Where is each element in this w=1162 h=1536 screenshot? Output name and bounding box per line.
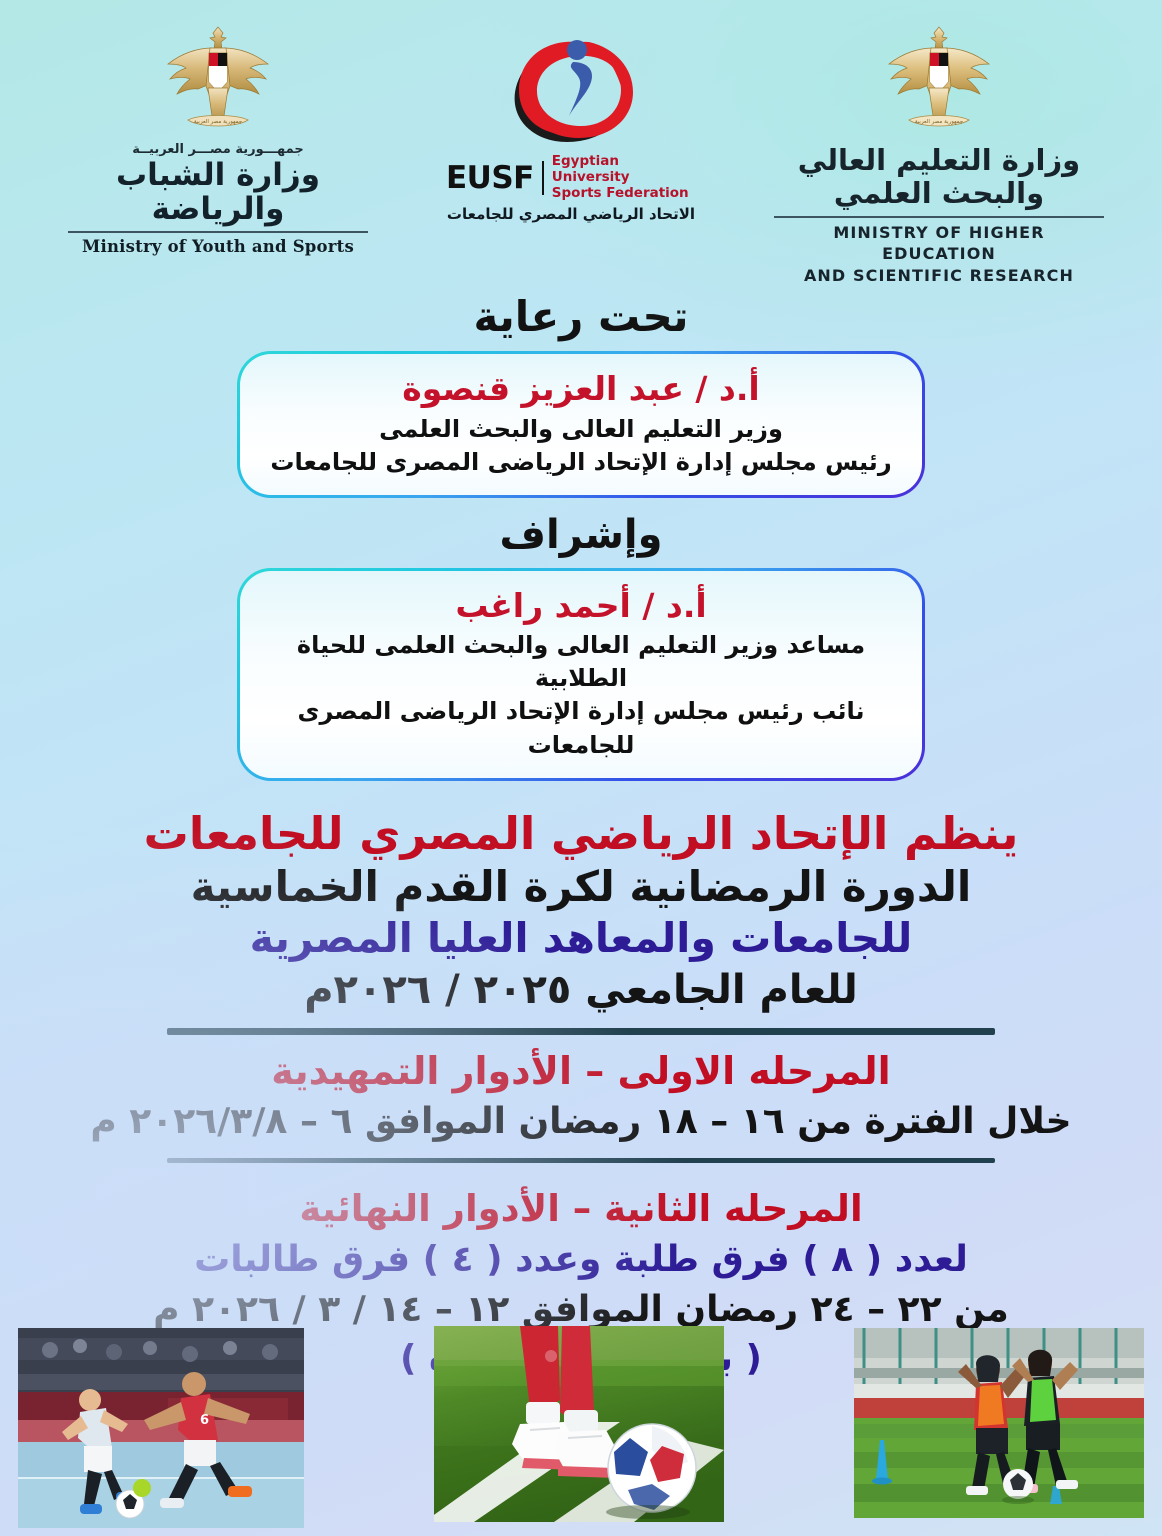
supervision-person-name: أ.د / أحمد راغب bbox=[262, 585, 900, 626]
mys-name-english: Ministry of Youth and Sports bbox=[82, 237, 354, 256]
event-title-academic-year: للعام الجامعي ٢٠٢٥ / ٢٠٢٦م bbox=[0, 964, 1162, 1016]
eusf-full-line2: Sports Federation bbox=[552, 185, 689, 201]
event-title-line1: ينظم الإتحاد الرياضي المصري للجامعات bbox=[0, 807, 1162, 861]
photo-strip: 6 bbox=[0, 1316, 1162, 1536]
svg-text:جمهورية مصر العربية: جمهورية مصر العربية bbox=[194, 119, 242, 125]
eusf-separator bbox=[542, 161, 544, 195]
phase-two-title: المرحله الثانية – الأدوار النهائية bbox=[0, 1185, 1162, 1233]
event-title-line3: للجامعات والمعاهد العليا المصرية bbox=[0, 913, 1162, 964]
patronage-person-role-2: رئيس مجلس إدارة الإتحاد الرياضى المصرى ل… bbox=[262, 446, 900, 479]
phase-one-date: خلال الفترة من ١٦ – ١٨ رمضان الموافق ٦ –… bbox=[0, 1099, 1162, 1146]
logo-ministry-higher-education: جمهورية مصر العربية وزارة التعليم العالي… bbox=[774, 22, 1104, 286]
logos-row: جمهورية مصر العربية جمهـــورية مصـــر ال… bbox=[0, 0, 1162, 286]
patronage-person-name: أ.د / عبد العزيز قنصوة bbox=[262, 368, 900, 409]
eusf-full-line1: Egyptian University bbox=[552, 153, 630, 185]
mohe-divider bbox=[774, 216, 1104, 218]
supervision-person-role-2: نائب رئيس مجلس إدارة الإتحاد الرياضى الم… bbox=[262, 695, 900, 761]
svg-text:6: 6 bbox=[200, 1413, 209, 1428]
mys-name-arabic: وزارة الشباب والرياضة bbox=[68, 158, 368, 226]
supervision-label: وإشراف bbox=[0, 512, 1162, 558]
phase-one: المرحله الاولى – الأدوار التمهيدية خلال … bbox=[0, 1047, 1162, 1145]
mohe-en-line1: MINISTRY OF HIGHER EDUCATION bbox=[774, 222, 1104, 265]
divider-bottom bbox=[167, 1158, 995, 1163]
eusf-wordmark: EUSF Egyptian University Sports Federati… bbox=[446, 154, 696, 202]
mohe-name-english: MINISTRY OF HIGHER EDUCATION AND SCIENTI… bbox=[774, 222, 1104, 287]
eusf-swoosh-icon bbox=[491, 28, 651, 150]
futsal-match-photo: 6 bbox=[18, 1328, 304, 1528]
eusf-name-arabic: الاتحاد الرياضي المصري للجامعات bbox=[447, 205, 695, 223]
mys-country-label: جمهـــورية مصـــر العربيــة bbox=[132, 142, 303, 157]
phase-two-teams: لعدد ( ٨ ) فرق طلبة وعدد ( ٤ ) فرق طالبا… bbox=[0, 1237, 1162, 1284]
mohe-name-arabic: وزارة التعليم العالي والبحث العلمي bbox=[774, 144, 1104, 211]
svg-text:جمهورية مصر العربية: جمهورية مصر العربية bbox=[915, 119, 963, 125]
eagle-of-saladin-icon-2: جمهورية مصر العربية bbox=[873, 22, 1005, 134]
football-on-pitch-photo bbox=[434, 1326, 724, 1522]
supervision-person-role-1: مساعد وزير التعليم العالى والبحث العلمى … bbox=[262, 629, 900, 695]
patronage-person-role-1: وزير التعليم العالى والبحث العلمى bbox=[262, 413, 900, 446]
poster-root: جمهورية مصر العربية جمهـــورية مصـــر ال… bbox=[0, 0, 1162, 1536]
logo-eusf: EUSF Egyptian University Sports Federati… bbox=[446, 22, 696, 223]
event-title-line2: الدورة الرمضانية لكرة القدم الخماسية bbox=[0, 861, 1162, 914]
divider-top bbox=[167, 1028, 995, 1035]
event-title: ينظم الإتحاد الرياضي المصري للجامعات الد… bbox=[0, 807, 1162, 1017]
eagle-of-saladin-icon: جمهورية مصر العربية bbox=[152, 22, 284, 134]
eusf-abbreviation: EUSF bbox=[446, 160, 534, 196]
mohe-en-line2: AND SCIENTIFIC RESEARCH bbox=[774, 265, 1104, 287]
logo-ministry-youth-sports: جمهورية مصر العربية جمهـــورية مصـــر ال… bbox=[68, 22, 368, 256]
phase-one-title: المرحله الاولى – الأدوار التمهيدية bbox=[0, 1047, 1162, 1096]
supervision-card: أ.د / أحمد راغب مساعد وزير التعليم العال… bbox=[237, 568, 925, 781]
patronage-label: تحت رعاية bbox=[0, 292, 1162, 341]
womens-football-training-photo bbox=[854, 1328, 1144, 1518]
patronage-card: أ.د / عبد العزيز قنصوة وزير التعليم العا… bbox=[237, 351, 925, 497]
mys-divider bbox=[68, 231, 368, 233]
eusf-full-name-english: Egyptian University Sports Federation bbox=[552, 154, 696, 202]
